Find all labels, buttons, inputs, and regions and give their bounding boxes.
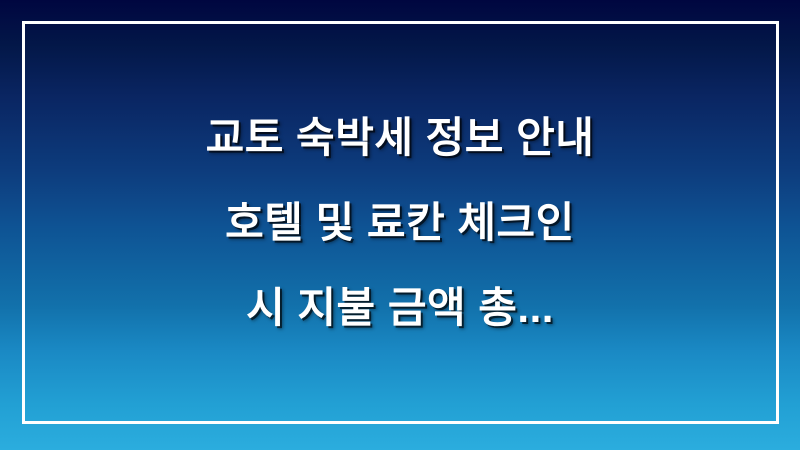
title-card: 교토 숙박세 정보 안내 호텔 및 료칸 체크인 시 지불 금액 총... — [0, 0, 800, 450]
headline-block: 교토 숙박세 정보 안내 호텔 및 료칸 체크인 시 지불 금액 총... — [0, 0, 800, 450]
headline-line-3: 시 지불 금액 총... — [0, 265, 800, 350]
headline-line-1: 교토 숙박세 정보 안내 — [0, 95, 800, 180]
headline-line-2: 호텔 및 료칸 체크인 — [0, 180, 800, 265]
